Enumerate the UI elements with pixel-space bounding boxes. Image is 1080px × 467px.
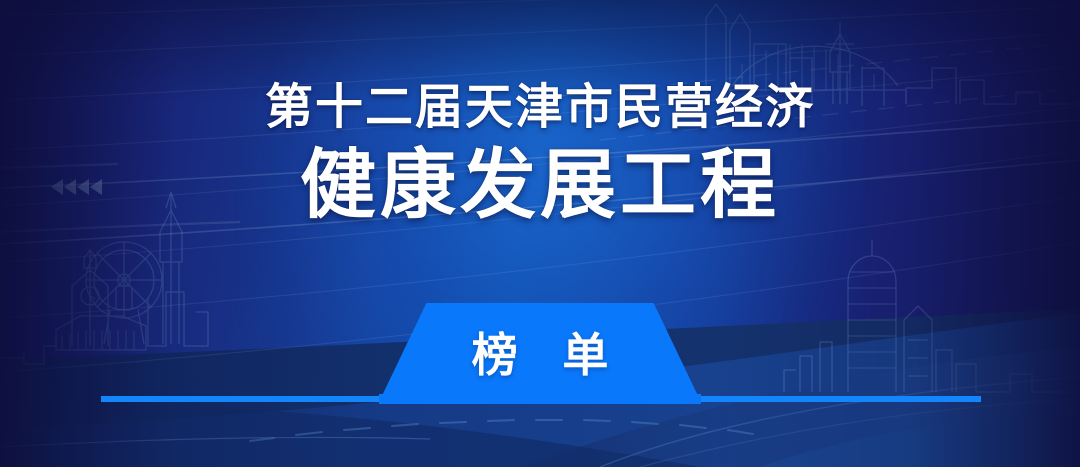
- badge-ranking: 榜 单: [380, 303, 700, 400]
- badge-rule-overlap: [379, 394, 701, 404]
- banner-title: 健康发展工程: [300, 148, 780, 224]
- banner-subtitle: 第十二届天津市民营经济: [265, 84, 815, 132]
- badge-label: 榜 单: [380, 303, 700, 400]
- banner-poster: 第十二届天津市民营经济 健康发展工程 榜 单: [0, 0, 1080, 467]
